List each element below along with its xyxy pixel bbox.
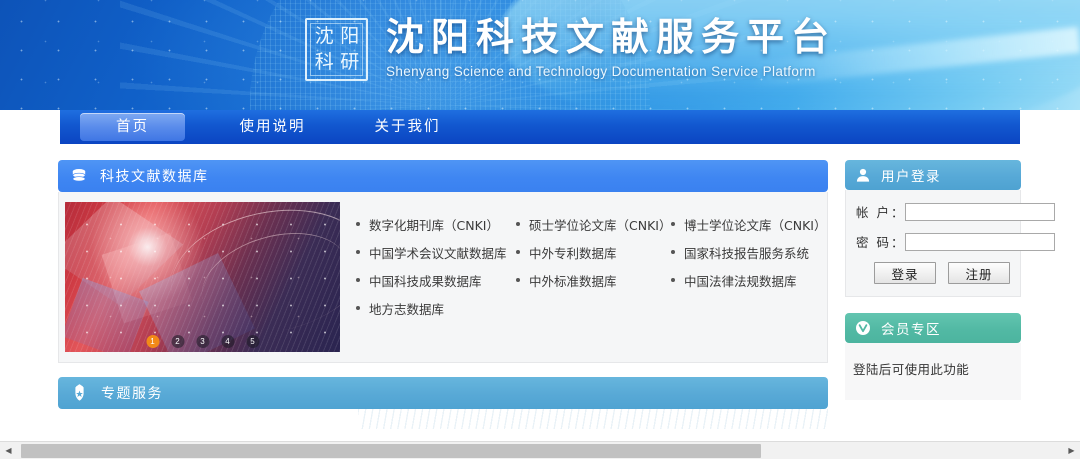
page-root: 沈 阳 科 研 沈阳科技文献服务平台 Shenyang Science and …	[0, 0, 1080, 459]
nav-item-about-us[interactable]: 关于我们	[355, 113, 460, 141]
scrollbar-thumb[interactable]	[21, 444, 761, 458]
register-button[interactable]: 注册	[948, 262, 1010, 284]
login-panel-header: 用户登录	[845, 160, 1021, 190]
brand-block: 沈 阳 科 研 沈阳科技文献服务平台 Shenyang Science and …	[305, 14, 836, 81]
carousel-indicators: 1 2 3 4 5	[146, 335, 259, 348]
section-title-special-service: 专题服务	[101, 383, 163, 403]
db-link-label: 中外专利数据库	[529, 243, 617, 262]
password-label: 密 码：	[856, 232, 905, 251]
login-panel-body: 帐 户： 密 码： 登录 注册	[845, 190, 1021, 297]
carousel-dot-2[interactable]: 2	[171, 335, 184, 348]
scrollbar-track[interactable]	[17, 442, 1063, 459]
database-link-column-2: 硕士学位论文库（CNKI） 中外专利数据库 中外标准数据库	[516, 210, 671, 352]
nav-item-home[interactable]: 首页	[80, 113, 185, 141]
bullet-icon	[671, 250, 675, 254]
bullet-icon	[516, 222, 520, 226]
site-subtitle: Shenyang Science and Technology Document…	[386, 64, 836, 79]
main-content-column: 科技文献数据库 1 2 3 4 5	[58, 160, 828, 429]
site-title: 沈阳科技文献服务平台	[386, 14, 836, 60]
db-link-label: 国家科技报告服务系统	[684, 243, 809, 262]
db-link-label: 硕士学位论文库（CNKI）	[529, 215, 671, 234]
member-panel-title: 会员专区	[881, 318, 941, 338]
carousel-dot-1[interactable]: 1	[146, 335, 159, 348]
database-link-column-1: 数字化期刊库（CNKI） 中国学术会议文献数据库 中国科技成果数据库	[356, 210, 516, 352]
db-link-item[interactable]: 中外专利数据库	[516, 238, 671, 266]
account-input[interactable]	[905, 203, 1055, 221]
database-icon	[70, 167, 88, 185]
login-panel-title: 用户登录	[881, 165, 941, 185]
bullet-icon	[671, 222, 675, 226]
page-body: 科技文献数据库 1 2 3 4 5	[0, 144, 1080, 441]
member-panel-note: 登陆后可使用此功能	[851, 343, 1015, 400]
bullet-icon	[356, 306, 360, 310]
member-panel-body: 登陆后可使用此功能	[845, 343, 1021, 400]
seal-char-2: 科	[311, 50, 337, 76]
bullet-icon	[516, 250, 520, 254]
db-link-label: 中外标准数据库	[529, 271, 617, 290]
section-header-special-service[interactable]: 专题服务	[58, 377, 828, 409]
horizontal-scrollbar[interactable]: ◀ ▶	[0, 441, 1080, 459]
user-icon	[855, 167, 871, 183]
database-panel-body: 1 2 3 4 5 数字化期刊库（CNKI）	[58, 192, 828, 363]
db-link-item[interactable]: 中国学术会议文献数据库	[356, 238, 516, 266]
password-row: 密 码：	[856, 232, 1010, 251]
sidebar-column: 用户登录 帐 户： 密 码： 登录 注册	[845, 160, 1021, 416]
brand-text-block: 沈阳科技文献服务平台 Shenyang Science and Technolo…	[386, 14, 836, 79]
login-button-row: 登录 注册	[856, 262, 1010, 284]
db-link-item[interactable]: 中外标准数据库	[516, 266, 671, 294]
carousel-art-particles	[65, 202, 340, 352]
account-label: 帐 户：	[856, 202, 905, 221]
carousel-dot-3[interactable]: 3	[196, 335, 209, 348]
db-link-item[interactable]: 中国科技成果数据库	[356, 266, 516, 294]
bullet-icon	[516, 278, 520, 282]
section-title-database: 科技文献数据库	[100, 166, 209, 186]
shield-star-icon	[70, 384, 89, 403]
db-link-item[interactable]: 博士学位论文库（CNKI）	[671, 210, 821, 238]
main-navigation-bar: 首页 使用说明 关于我们	[60, 110, 1020, 144]
nav-item-instructions[interactable]: 使用说明	[220, 113, 325, 141]
member-panel: 会员专区 登陆后可使用此功能	[845, 313, 1021, 400]
v-badge-icon	[855, 320, 871, 336]
scroll-right-arrow-icon[interactable]: ▶	[1063, 442, 1080, 459]
db-link-label: 中国科技成果数据库	[369, 271, 482, 290]
special-service-panel-body	[58, 409, 828, 429]
db-link-item[interactable]: 国家科技报告服务系统	[671, 238, 821, 266]
database-link-lists: 数字化期刊库（CNKI） 中国学术会议文献数据库 中国科技成果数据库	[340, 202, 827, 352]
site-header-banner: 沈 阳 科 研 沈阳科技文献服务平台 Shenyang Science and …	[0, 0, 1080, 110]
db-link-label: 中国法律法规数据库	[684, 271, 797, 290]
bullet-icon	[356, 278, 360, 282]
scroll-left-arrow-icon[interactable]: ◀	[0, 442, 17, 459]
banner-carousel[interactable]: 1 2 3 4 5	[65, 202, 340, 352]
password-input[interactable]	[905, 233, 1055, 251]
db-link-label: 地方志数据库	[369, 299, 444, 318]
login-panel: 用户登录 帐 户： 密 码： 登录 注册	[845, 160, 1021, 297]
login-button[interactable]: 登录	[874, 262, 936, 284]
bullet-icon	[356, 222, 360, 226]
db-link-item[interactable]: 硕士学位论文库（CNKI）	[516, 210, 671, 238]
db-link-label: 数字化期刊库（CNKI）	[369, 215, 499, 234]
site-logo-seal-icon: 沈 阳 科 研	[305, 18, 368, 81]
database-link-column-3: 博士学位论文库（CNKI） 国家科技报告服务系统 中国法律法规数据库	[671, 210, 821, 352]
section-spacer	[58, 363, 828, 377]
decorative-background-art	[358, 409, 828, 429]
seal-char-3: 研	[337, 50, 363, 76]
carousel-dot-5[interactable]: 5	[246, 335, 259, 348]
seal-char-0: 沈	[311, 24, 337, 50]
section-header-database[interactable]: 科技文献数据库	[58, 160, 828, 192]
db-link-item[interactable]: 中国法律法规数据库	[671, 266, 821, 294]
db-link-label: 中国学术会议文献数据库	[369, 243, 507, 262]
bullet-icon	[671, 278, 675, 282]
carousel-dot-4[interactable]: 4	[221, 335, 234, 348]
seal-char-1: 阳	[337, 24, 363, 50]
db-link-item[interactable]: 地方志数据库	[356, 294, 516, 322]
db-link-label: 博士学位论文库（CNKI）	[684, 215, 826, 234]
account-row: 帐 户：	[856, 202, 1010, 221]
bullet-icon	[356, 250, 360, 254]
db-link-item[interactable]: 数字化期刊库（CNKI）	[356, 210, 516, 238]
member-panel-header: 会员专区	[845, 313, 1021, 343]
